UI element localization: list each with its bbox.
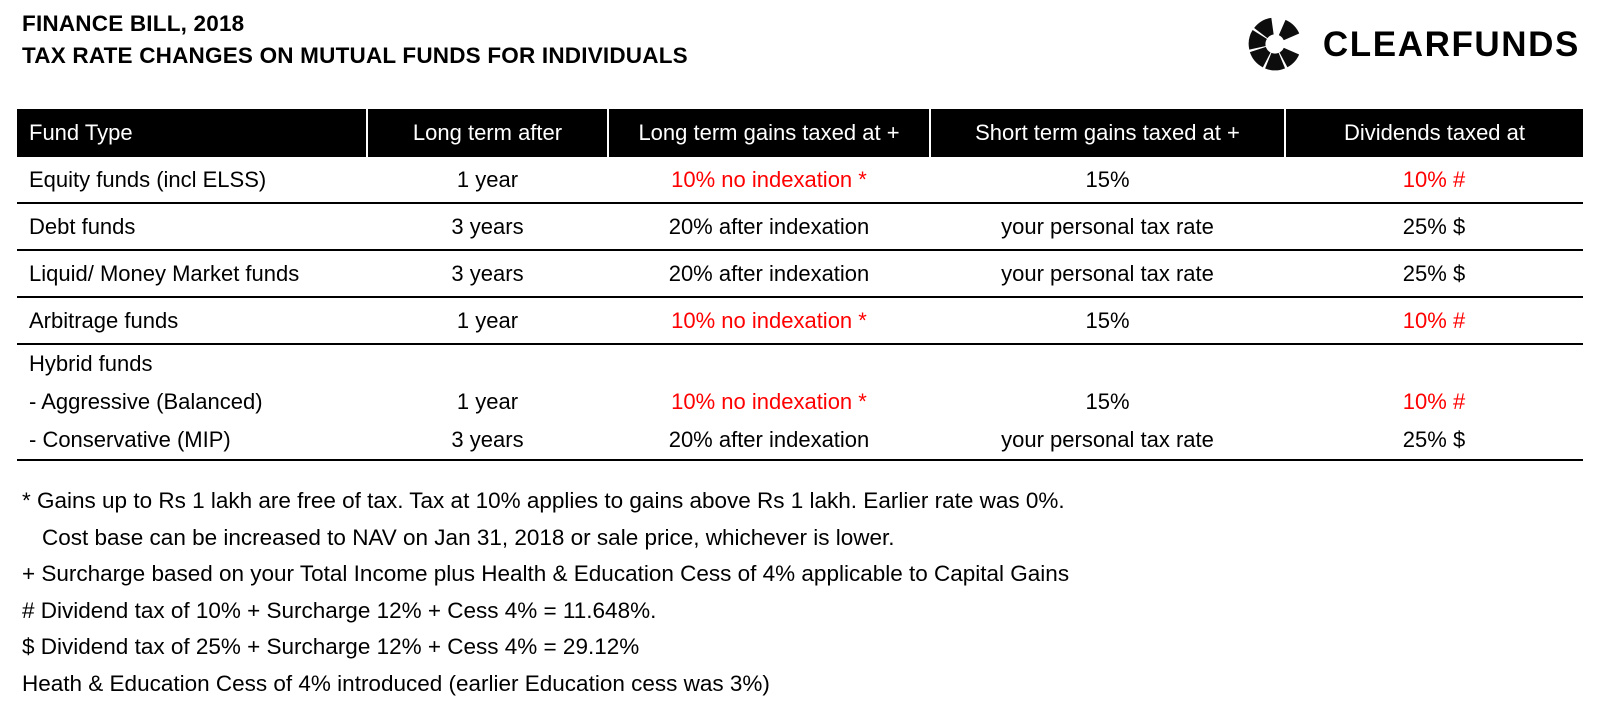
table-body: Equity funds (incl ELSS) 1 year 10% no i… <box>17 157 1583 460</box>
cell-short-term-gains: your personal tax rate <box>930 250 1285 297</box>
footnotes-block: * Gains up to Rs 1 lakh are free of tax.… <box>22 483 1582 702</box>
cell-fund-type: Arbitrage funds <box>17 297 367 344</box>
footnote-asterisk: * Gains up to Rs 1 lakh are free of tax.… <box>22 483 1582 520</box>
cell-fund-type: - Conservative (MIP) <box>17 421 367 460</box>
cell-long-term-gains: 20% after indexation <box>608 250 930 297</box>
cell-fund-type: Hybrid funds <box>17 344 367 383</box>
column-header-long-term-gains: Long term gains taxed at + <box>608 109 930 157</box>
cell-short-term-gains: 15% <box>930 297 1285 344</box>
cell-fund-type: Debt funds <box>17 203 367 250</box>
tax-rates-table: Fund Type Long term after Long term gain… <box>17 109 1583 461</box>
cell-fund-type: - Aggressive (Balanced) <box>17 383 367 421</box>
cell-short-term-gains: 15% <box>930 383 1285 421</box>
table-row-group-header: Hybrid funds <box>17 344 1583 383</box>
cell-long-term-gains: 10% no indexation * <box>608 157 930 203</box>
column-header-long-term-after: Long term after <box>367 109 608 157</box>
cell-long-term-gains: 10% no indexation * <box>608 297 930 344</box>
brand-name: CLEARFUNDS <box>1323 27 1580 62</box>
cell-dividends: 10% # <box>1285 297 1583 344</box>
cell-short-term-gains: 15% <box>930 157 1285 203</box>
tax-rates-table-container: Fund Type Long term after Long term gain… <box>17 109 1583 461</box>
table-row: Liquid/ Money Market funds 3 years 20% a… <box>17 250 1583 297</box>
page-title-primary: FINANCE BILL, 2018 <box>22 8 688 40</box>
column-header-fund-type: Fund Type <box>17 109 367 157</box>
cell-long-term-gains: 10% no indexation * <box>608 383 930 421</box>
cell-short-term-gains: your personal tax rate <box>930 421 1285 460</box>
cell-long-term-after: 1 year <box>367 297 608 344</box>
cell-long-term-gains: 20% after indexation <box>608 421 930 460</box>
footnote-dollar: $ Dividend tax of 25% + Surcharge 12% + … <box>22 629 1582 666</box>
cell-long-term-after: 3 years <box>367 421 608 460</box>
cell-fund-type: Equity funds (incl ELSS) <box>17 157 367 203</box>
footnote-asterisk-cont: Cost base can be increased to NAV on Jan… <box>22 520 1582 557</box>
cell-dividends: 25% $ <box>1285 250 1583 297</box>
cell-long-term-after: 3 years <box>367 203 608 250</box>
cell-dividends: 25% $ <box>1285 421 1583 460</box>
clearfunds-logo-icon <box>1245 14 1305 74</box>
cell-short-term-gains: your personal tax rate <box>930 203 1285 250</box>
table-row: Debt funds 3 years 20% after indexation … <box>17 203 1583 250</box>
footnote-cess: Heath & Education Cess of 4% introduced … <box>22 666 1582 703</box>
finance-bill-tax-table-page: FINANCE BILL, 2018 TAX RATE CHANGES ON M… <box>0 0 1600 719</box>
footnote-hash: # Dividend tax of 10% + Surcharge 12% + … <box>22 593 1582 630</box>
cell-long-term-gains: 20% after indexation <box>608 203 930 250</box>
cell-dividends: 25% $ <box>1285 203 1583 250</box>
brand-lockup: CLEARFUNDS <box>1245 14 1580 74</box>
cell-long-term-gains <box>608 344 930 383</box>
table-row: - Aggressive (Balanced) 1 year 10% no in… <box>17 383 1583 421</box>
cell-fund-type: Liquid/ Money Market funds <box>17 250 367 297</box>
cell-long-term-after: 1 year <box>367 383 608 421</box>
cell-dividends <box>1285 344 1583 383</box>
column-header-dividends: Dividends taxed at <box>1285 109 1583 157</box>
table-row: Arbitrage funds 1 year 10% no indexation… <box>17 297 1583 344</box>
page-title-secondary: TAX RATE CHANGES ON MUTUAL FUNDS FOR IND… <box>22 40 688 72</box>
table-row: - Conservative (MIP) 3 years 20% after i… <box>17 421 1583 460</box>
cell-dividends: 10% # <box>1285 383 1583 421</box>
cell-long-term-after <box>367 344 608 383</box>
footnote-plus: + Surcharge based on your Total Income p… <box>22 556 1582 593</box>
page-title-block: FINANCE BILL, 2018 TAX RATE CHANGES ON M… <box>22 8 688 72</box>
cell-short-term-gains <box>930 344 1285 383</box>
cell-dividends: 10% # <box>1285 157 1583 203</box>
table-header-row: Fund Type Long term after Long term gain… <box>17 109 1583 157</box>
column-header-short-term-gains: Short term gains taxed at + <box>930 109 1285 157</box>
table-row: Equity funds (incl ELSS) 1 year 10% no i… <box>17 157 1583 203</box>
page-header: FINANCE BILL, 2018 TAX RATE CHANGES ON M… <box>0 0 1600 96</box>
cell-long-term-after: 3 years <box>367 250 608 297</box>
cell-long-term-after: 1 year <box>367 157 608 203</box>
